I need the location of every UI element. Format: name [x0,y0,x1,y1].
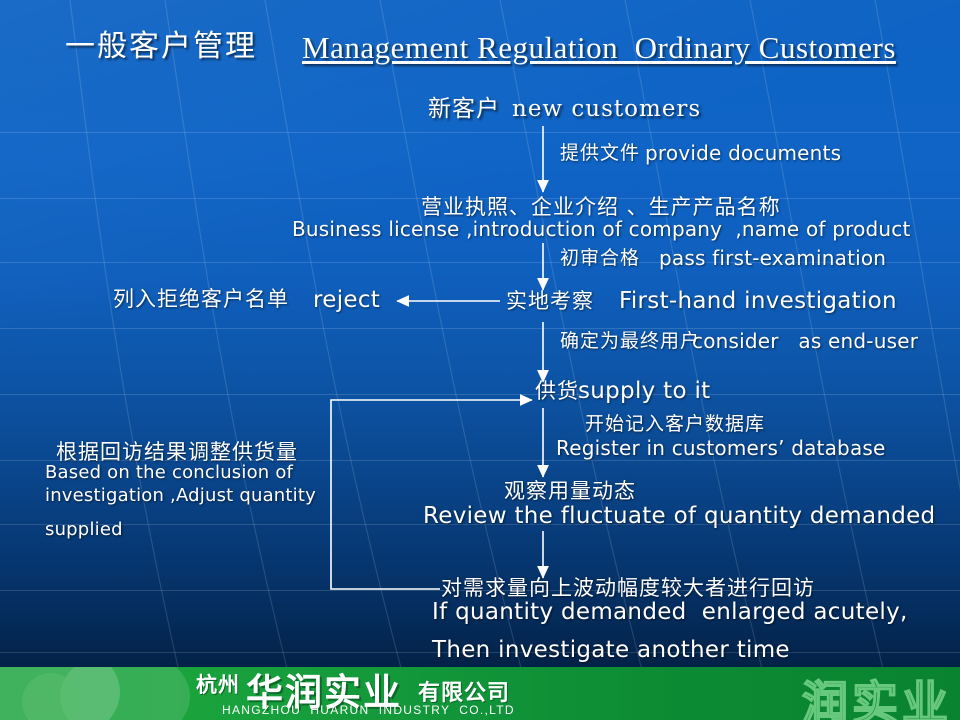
logo-english-text: HANGZHOU HUARUN INDUSTRY CO.,LTD [222,703,515,717]
edge1-label-english: provide documents [645,143,841,164]
step6-label-english-line1: If quantity demanded enlarged acutely, [432,600,908,624]
step5-label-english: Review the fluctuate of quantity demande… [423,504,935,528]
step6-label-english-line2: Then investigate another time [432,638,790,662]
edge3-label-english: consider as end-user [692,331,918,352]
feedback-label-english-line2: investigation ,Adjust quantity [45,487,316,506]
bg-band-line [0,394,960,395]
step3-label-chinese: 实地考察 [506,290,594,312]
page-title-chinese: 一般客户管理 [65,31,257,63]
slide-canvas: 一般客户管理 Management Regulation Ordinary Cu… [0,0,960,720]
bg-band-line [0,132,960,133]
reject-label-english: reject [313,288,380,312]
logo-watermark: 润实业 [802,667,952,720]
arrow-feedback-loop [331,400,532,589]
footer-logo-bar: 润实业 杭州 华润实业 有限公司 HANGZHOU HUARUN INDUSTR… [0,667,960,720]
step5-label-chinese: 观察用量动态 [504,480,636,502]
edge1-label-chinese: 提供文件 [560,144,640,164]
edge2-label-english: pass first-examination [659,248,886,269]
feedback-label-chinese: 根据回访结果调整供货量 [56,441,298,463]
step2-label-chinese: 营业执照、企业介绍 、生产产品名称 [421,196,781,218]
step4-label-chinese: 供货 [535,380,579,402]
feedback-label-english-line3: supplied [45,521,123,540]
step2-label-english: Business license ,introduction of compan… [292,219,911,240]
edge4-label-chinese: 开始记入客户数据库 [585,415,765,435]
step6-label-chinese: 对需求量向上波动幅度较大者进行回访 [441,577,815,599]
page-title-english: Management Regulation Ordinary Customers [302,32,896,65]
logo-decor-circle [60,667,190,720]
step1-label-chinese: 新客户 [428,97,500,121]
step1-label-english: new customers [512,97,701,121]
edge4-label-english: Register in customers’ database [556,438,886,459]
step3-label-english: First-hand investigation [619,289,897,313]
logo-city-text: 杭州 [196,669,240,699]
edge3-label-chinese: 确定为最终用户 [560,332,700,352]
step4-label-english: supply to it [578,379,710,403]
reject-label-chinese: 列入拒绝客户名单 [113,288,289,310]
edge2-label-chinese: 初审合格 [560,249,640,269]
feedback-label-english-line1: Based on the conclusion of [45,464,293,483]
